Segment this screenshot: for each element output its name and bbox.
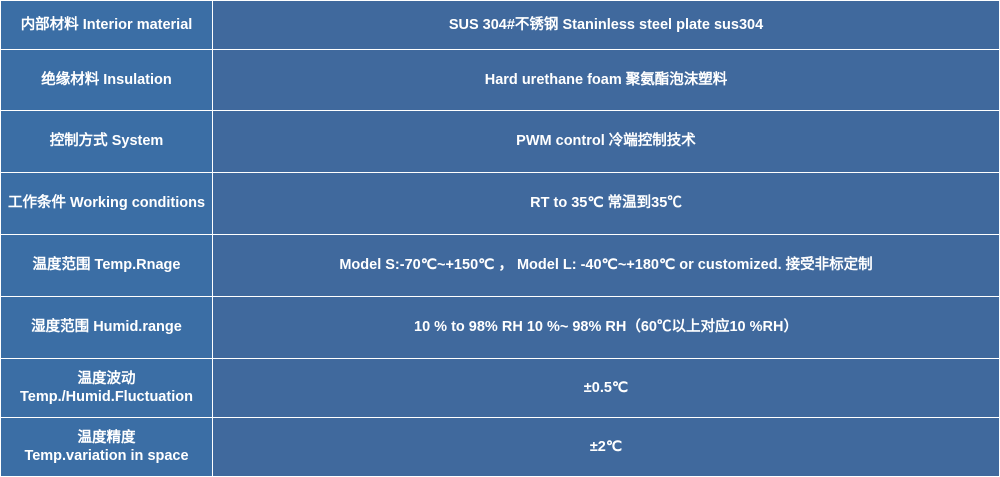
specification-table: 内部材料 Interior material SUS 304#不锈钢 Stani… — [0, 0, 1000, 477]
row-value: ±2℃ — [213, 418, 1000, 477]
row-label: 湿度范围 Humid.range — [1, 297, 213, 359]
table-row: 控制方式 System PWM control 冷端控制技术 — [1, 111, 1000, 173]
row-label-line1: 温度波动 — [4, 370, 209, 388]
table-row: 湿度范围 Humid.range 10 % to 98% RH 10 %~ 98… — [1, 297, 1000, 359]
table-row: 温度范围 Temp.Rnage Model S:-70℃~+150℃ ， Mod… — [1, 235, 1000, 297]
row-value: 10 % to 98% RH 10 %~ 98% RH（60℃以上对应10 %R… — [213, 297, 1000, 359]
table-row: 内部材料 Interior material SUS 304#不锈钢 Stani… — [1, 1, 1000, 50]
table-row: 工作条件 Working conditions RT to 35℃ 常温到35℃ — [1, 173, 1000, 235]
row-value: PWM control 冷端控制技术 — [213, 111, 1000, 173]
row-label: 温度波动 Temp./Humid.Fluctuation — [1, 359, 213, 418]
table-row: 温度精度 Temp.variation in space ±2℃ — [1, 418, 1000, 477]
row-value: ±0.5℃ — [213, 359, 1000, 418]
row-value: SUS 304#不锈钢 Staninless steel plate sus30… — [213, 1, 1000, 50]
row-label: 温度精度 Temp.variation in space — [1, 418, 213, 477]
row-label: 绝缘材料 Insulation — [1, 50, 213, 111]
row-label: 控制方式 System — [1, 111, 213, 173]
row-label: 内部材料 Interior material — [1, 1, 213, 50]
row-label: 温度范围 Temp.Rnage — [1, 235, 213, 297]
row-label-line2: Temp./Humid.Fluctuation — [4, 388, 209, 406]
table-row: 温度波动 Temp./Humid.Fluctuation ±0.5℃ — [1, 359, 1000, 418]
row-label-line1: 温度精度 — [4, 429, 209, 447]
row-value: Hard urethane foam 聚氨酯泡沫塑料 — [213, 50, 1000, 111]
row-value: RT to 35℃ 常温到35℃ — [213, 173, 1000, 235]
table-row: 绝缘材料 Insulation Hard urethane foam 聚氨酯泡沫… — [1, 50, 1000, 111]
row-label-line2: Temp.variation in space — [4, 447, 209, 465]
row-value: Model S:-70℃~+150℃ ， Model L: -40℃~+180℃… — [213, 235, 1000, 297]
row-label: 工作条件 Working conditions — [1, 173, 213, 235]
